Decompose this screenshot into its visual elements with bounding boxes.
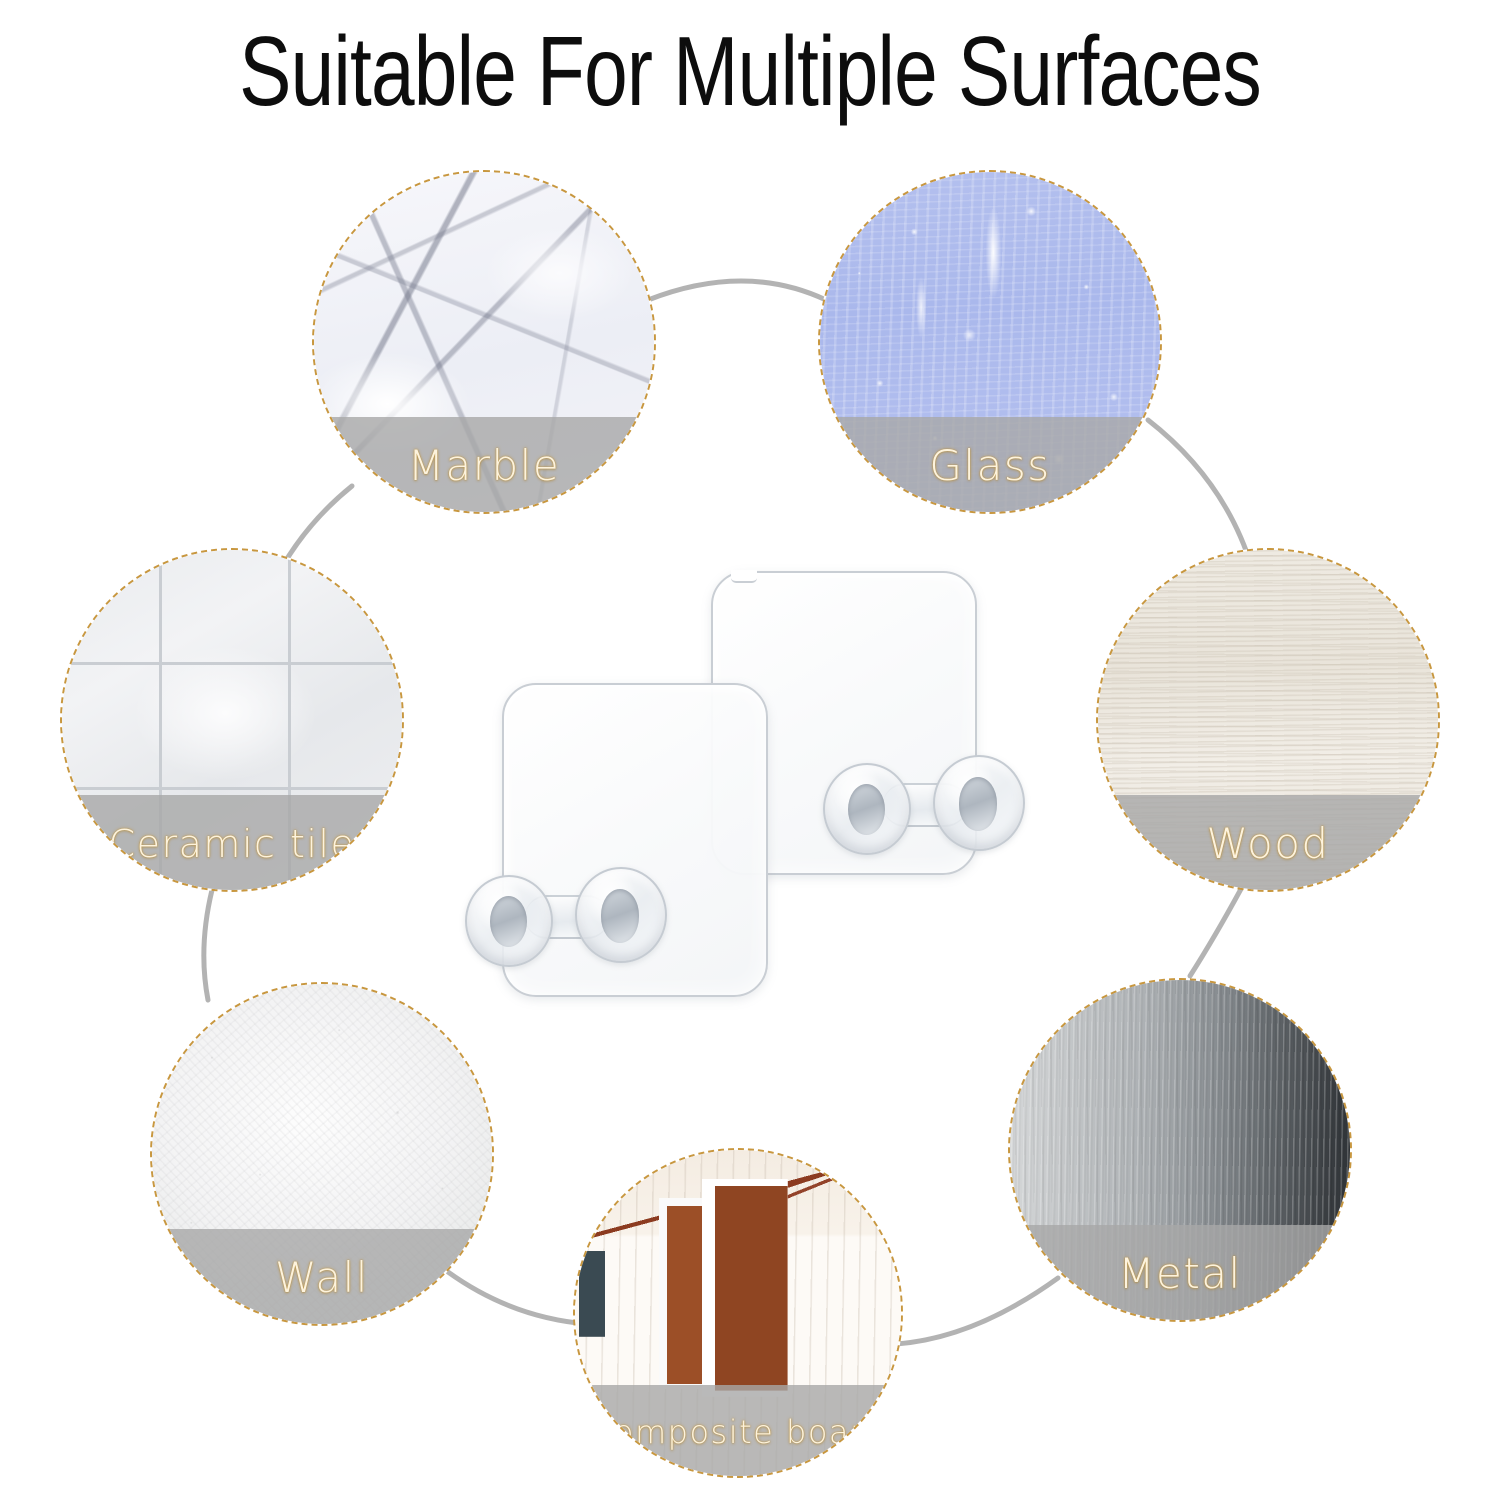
hook-knob-back-left [823, 763, 911, 855]
wall-label-band: Wall [150, 1229, 494, 1326]
surface-circle-ceramic-tile[interactable]: Ceramic tile [60, 548, 404, 892]
hook-knobs-back [823, 755, 1023, 861]
plate-notch-back [731, 570, 757, 583]
hook-knob-front-left-inner [490, 896, 527, 947]
hook-knob-back-right [933, 755, 1025, 851]
surface-circle-glass[interactable]: Glass [818, 170, 1162, 514]
hook-knob-front-left [465, 875, 553, 967]
composite-board-label-band: Composite board [573, 1385, 903, 1478]
wood-label-band: Wood [1096, 795, 1440, 892]
hook-knob-front-right [575, 867, 667, 963]
metal-label-band: Metal [1008, 1225, 1352, 1322]
surface-circle-wall[interactable]: Wall [150, 982, 494, 1326]
hook-knob-back-left-inner [848, 784, 885, 835]
surface-circle-marble[interactable]: Marble [312, 170, 656, 514]
marble-label-band: Marble [312, 417, 656, 514]
page-title: Suitable For Multiple Surfaces [150, 18, 1350, 126]
glass-label-band: Glass [818, 417, 1162, 514]
surface-label-metal: Metal [1118, 1253, 1241, 1295]
hook-knob-front-right-inner [601, 889, 640, 942]
surface-label-wall: Wall [275, 1257, 369, 1299]
hook-knob-back-right-inner [959, 777, 998, 830]
hook-knobs-front [465, 867, 665, 973]
surface-label-composite-board: Composite board [590, 1416, 886, 1448]
surface-circle-metal[interactable]: Metal [1008, 978, 1352, 1322]
surface-label-marble: Marble [408, 445, 560, 487]
surface-label-wood: Wood [1206, 823, 1329, 865]
surface-circle-composite-board[interactable]: Composite board [573, 1148, 903, 1478]
connector-wood-metal [1190, 876, 1248, 976]
connector-marble-glass [648, 281, 826, 300]
connector-glass-wood [1148, 420, 1252, 568]
surface-circle-wood[interactable]: Wood [1096, 548, 1440, 892]
product-adhesive-hooks [455, 545, 1055, 1065]
ceramic-tile-label-band: Ceramic tile [60, 795, 404, 892]
surface-label-glass: Glass [929, 445, 1050, 487]
surface-label-ceramic-tile: Ceramic tile [109, 825, 356, 863]
